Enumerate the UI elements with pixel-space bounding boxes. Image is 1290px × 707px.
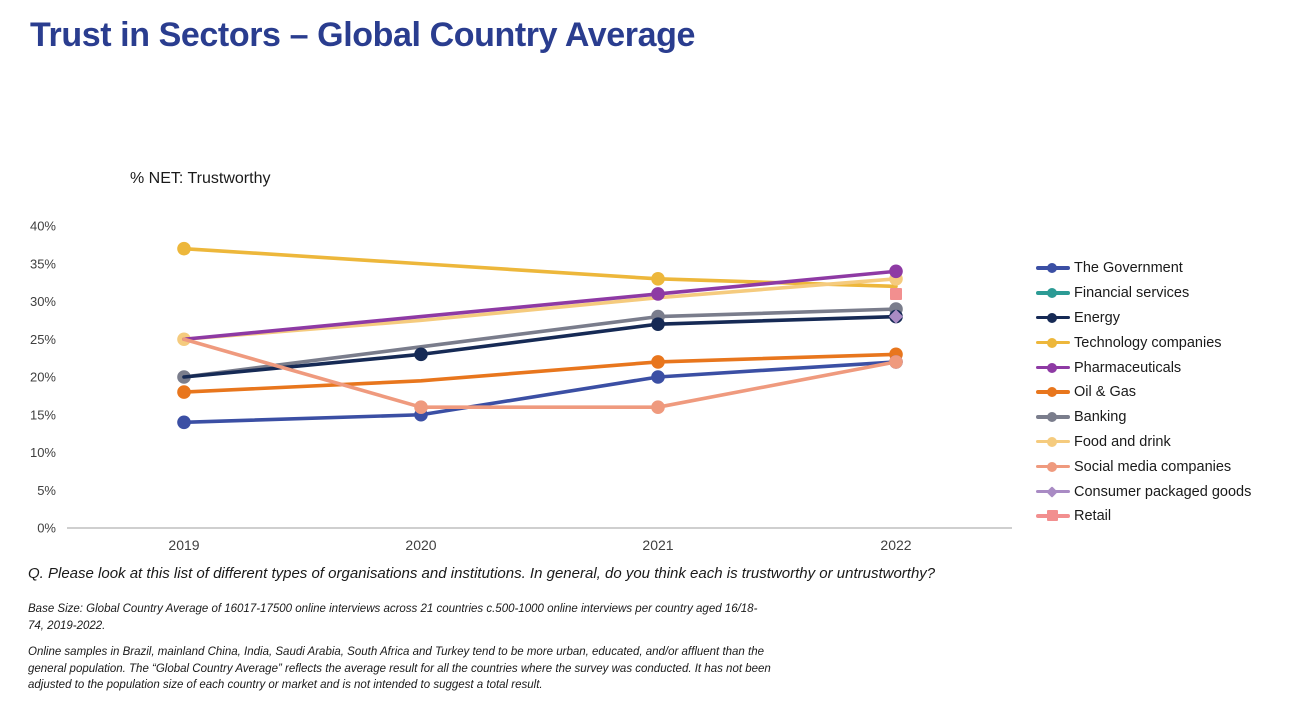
data-point-marker [651, 400, 665, 414]
legend-item[interactable]: Food and drink [1036, 430, 1286, 455]
data-point-marker [889, 265, 903, 279]
series-social-media-companies [184, 339, 903, 414]
y-axis-tick-label: 0% [37, 521, 56, 536]
series-line [184, 271, 896, 339]
legend-item[interactable]: The Government [1036, 256, 1286, 281]
legend-item[interactable]: Banking [1036, 405, 1286, 430]
data-point-marker [889, 355, 903, 369]
data-point-marker [651, 355, 665, 369]
y-axis-tick-label: 35% [30, 256, 56, 271]
legend-item-label: Consumer packaged goods [1074, 484, 1251, 500]
data-point-marker [177, 242, 191, 256]
page-title: Trust in Sectors – Global Country Averag… [30, 16, 695, 55]
question-footnote: Q. Please look at this list of different… [28, 565, 935, 582]
y-axis-tick-label: 15% [30, 407, 56, 422]
legend-item-label: Banking [1074, 409, 1126, 425]
legend-swatch-icon [1036, 435, 1070, 449]
y-axis-tick-label: 10% [30, 445, 56, 460]
data-point-marker [414, 400, 428, 414]
x-axis-tick-label: 2019 [168, 537, 199, 553]
y-axis-tick-label: 5% [37, 483, 56, 498]
legend-item-label: Financial services [1074, 285, 1189, 301]
legend-item-label: Social media companies [1074, 459, 1231, 475]
legend-item-label: Pharmaceuticals [1074, 360, 1181, 376]
legend-item-label: Oil & Gas [1074, 384, 1136, 400]
line-chart: 0%5%10%15%20%25%30%35%40% 20192020202120… [0, 200, 1020, 560]
legend-swatch-icon [1036, 410, 1070, 424]
series-oil-gas [177, 348, 903, 399]
legend-swatch-icon [1036, 336, 1070, 350]
legend-marker-diamond-icon [1046, 486, 1057, 497]
legend-item-label: Technology companies [1074, 335, 1222, 351]
data-point-marker [414, 348, 428, 362]
series-technology-companies [177, 242, 896, 287]
data-point-marker [177, 385, 191, 399]
legend-item-label: Energy [1074, 310, 1120, 326]
legend-marker-circle-icon [1047, 387, 1057, 397]
legend-item-label: The Government [1074, 260, 1183, 276]
data-point-marker [651, 317, 665, 331]
legend-marker-circle-icon [1047, 437, 1057, 447]
legend-swatch-icon [1036, 361, 1070, 375]
legend-item-label: Retail [1074, 508, 1111, 524]
chart-subtitle: % NET: Trustworthy [130, 170, 270, 188]
legend-marker-square-icon [1047, 510, 1058, 521]
data-point-marker [651, 287, 665, 301]
y-axis-tick-label: 20% [30, 370, 56, 385]
legend-marker-circle-icon [1047, 288, 1057, 298]
legend-item[interactable]: Financial services [1036, 281, 1286, 306]
chart-canvas: 0%5%10%15%20%25%30%35%40% 20192020202120… [0, 200, 1020, 560]
x-axis-tick-label: 2021 [642, 537, 673, 553]
legend-marker-circle-icon [1047, 313, 1057, 323]
y-axis-tick-label: 30% [30, 294, 56, 309]
series-pharmaceuticals [184, 265, 903, 340]
x-axis: 2019202020212022 [67, 528, 1012, 553]
legend-swatch-icon [1036, 286, 1070, 300]
data-point-marker [177, 416, 191, 430]
legend-marker-circle-icon [1047, 462, 1057, 472]
legend-marker-circle-icon [1047, 338, 1057, 348]
legend-swatch-icon [1036, 485, 1070, 499]
legend-item[interactable]: Energy [1036, 306, 1286, 331]
series-retail [890, 288, 902, 300]
y-axis-tick-label: 25% [30, 332, 56, 347]
legend-swatch-icon [1036, 385, 1070, 399]
y-axis: 0%5%10%15%20%25%30%35%40% [30, 219, 56, 536]
y-axis-tick-label: 40% [30, 219, 56, 234]
legend-marker-circle-icon [1047, 412, 1057, 422]
data-point-marker [890, 288, 902, 300]
legend-item[interactable]: Retail [1036, 504, 1286, 529]
base-size-footnote: Base Size: Global Country Average of 160… [28, 601, 768, 634]
legend-swatch-icon [1036, 460, 1070, 474]
legend-swatch-icon [1036, 311, 1070, 325]
legend-item[interactable]: Pharmaceuticals [1036, 355, 1286, 380]
legend-item-label: Food and drink [1074, 434, 1171, 450]
legend-item[interactable]: Technology companies [1036, 330, 1286, 355]
legend-swatch-icon [1036, 509, 1070, 523]
data-point-marker [651, 272, 665, 286]
data-point-marker [651, 370, 665, 384]
legend-marker-circle-icon [1047, 363, 1057, 373]
series-line [184, 354, 896, 392]
legend-item[interactable]: Oil & Gas [1036, 380, 1286, 405]
legend-swatch-icon [1036, 261, 1070, 275]
legend-item[interactable]: Social media companies [1036, 454, 1286, 479]
legend-marker-circle-icon [1047, 263, 1057, 273]
series-layer [177, 242, 903, 429]
x-axis-tick-label: 2022 [880, 537, 911, 553]
sample-footnote: Online samples in Brazil, mainland China… [28, 644, 788, 694]
chart-legend: The GovernmentFinancial servicesEnergyTe… [1036, 256, 1286, 529]
legend-item[interactable]: Consumer packaged goods [1036, 479, 1286, 504]
x-axis-tick-label: 2020 [405, 537, 436, 553]
